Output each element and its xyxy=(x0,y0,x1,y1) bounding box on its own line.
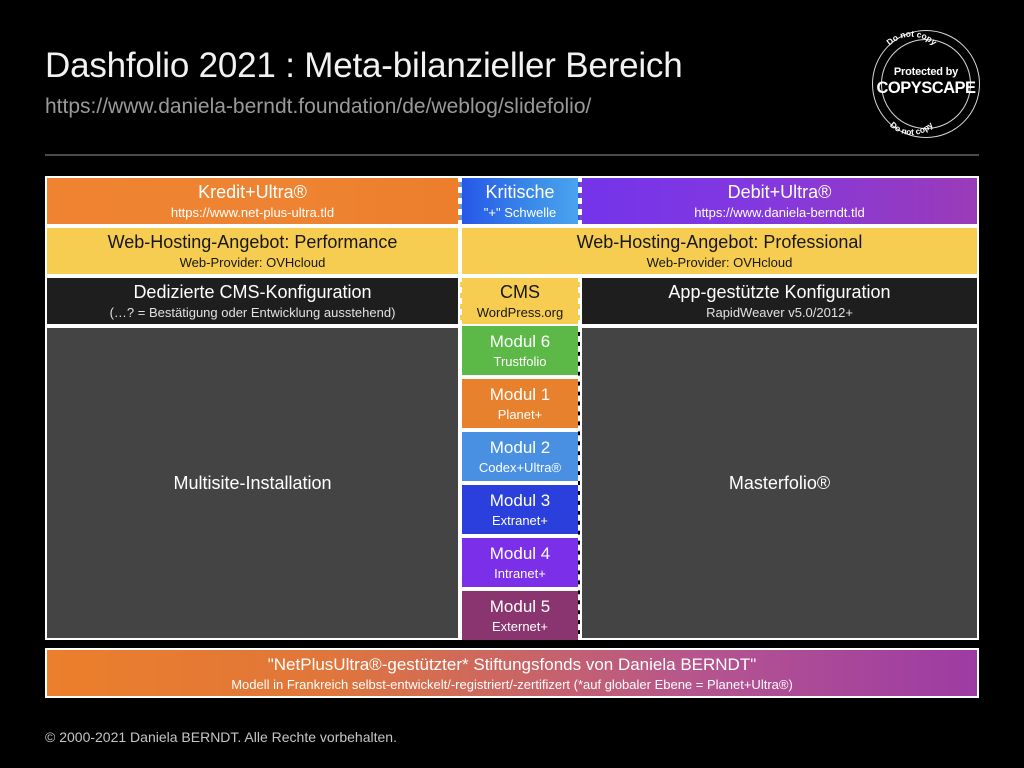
footer-banner-line2: Modell in Frankreich selbst-entwickelt/-… xyxy=(231,676,793,693)
cell-dedizierte-cms-konfiguration[interactable]: Dedizierte CMS-Konfiguration (…? = Bestä… xyxy=(45,276,460,326)
cell-cms-platform: WordPress.org xyxy=(477,304,563,321)
module-item-6-title: Modul 6 xyxy=(490,331,550,353)
cell-masterfolio[interactable]: Masterfolio® xyxy=(580,326,979,640)
badge-copyscape-label: COPYSCAPE xyxy=(872,79,980,98)
badge-arc-bottom-icon: Do not copy xyxy=(872,112,951,134)
cell-multisite-installation[interactable]: Multisite-Installation xyxy=(45,326,460,640)
badge-arc-top-icon: Do not copy xyxy=(872,36,951,58)
module-item-1-subtitle: Planet+ xyxy=(498,406,542,423)
module-item-1[interactable]: Modul 1 Planet+ xyxy=(462,377,578,430)
header-divider xyxy=(45,154,979,156)
module-item-6-subtitle: Trustfolio xyxy=(494,353,547,370)
badge-protected-label: Protected by xyxy=(872,66,980,79)
cell-dedizierte-cms-title: Dedizierte CMS-Konfiguration xyxy=(133,281,371,304)
cell-hosting-professional-title: Web-Hosting-Angebot: Professional xyxy=(577,231,863,254)
grid-row-hosting: Web-Hosting-Angebot: Performance Web-Pro… xyxy=(45,226,979,276)
module-item-4[interactable]: Modul 4 Intranet+ xyxy=(462,536,578,589)
cell-debit-ultra[interactable]: Debit+Ultra® https://www.daniela-berndt.… xyxy=(580,176,979,226)
module-column: Modul 6 Trustfolio Modul 1 Planet+ Modul… xyxy=(460,326,580,640)
cell-kritische-title: Kritische xyxy=(485,181,554,204)
module-item-2-title: Modul 2 xyxy=(490,437,550,459)
module-item-3[interactable]: Modul 3 Extranet+ xyxy=(462,483,578,536)
cell-kritische-subtitle: "+" Schwelle xyxy=(484,204,556,221)
module-item-2-subtitle: Codex+Ultra® xyxy=(479,459,561,476)
module-item-4-title: Modul 4 xyxy=(490,543,550,565)
module-item-5-subtitle: Externet+ xyxy=(492,618,548,635)
copyright-notice: © 2000-2021 Daniela BERNDT. Alle Rechte … xyxy=(45,727,397,747)
cell-masterfolio-title: Masterfolio® xyxy=(729,472,830,495)
badge-center: Protected by COPYSCAPE xyxy=(872,66,980,98)
copyscape-badge: Do not copy Protected by COPYSCAPE Do no… xyxy=(872,30,980,138)
grid-row-accounts: Kredit+Ultra® https://www.net-plus-ultra… xyxy=(45,176,979,226)
page-url[interactable]: https://www.daniela-berndt.foundation/de… xyxy=(45,92,835,122)
cell-kredit-ultra[interactable]: Kredit+Ultra® https://www.net-plus-ultra… xyxy=(45,176,460,226)
cell-hosting-professional[interactable]: Web-Hosting-Angebot: Professional Web-Pr… xyxy=(460,226,979,276)
cell-multisite-title: Multisite-Installation xyxy=(173,472,331,495)
footer-banner-line1: "NetPlusUltra®-gestützter* Stiftungsfond… xyxy=(268,654,757,676)
cell-app-gestuetzte-konfiguration[interactable]: App-gestützte Konfiguration RapidWeaver … xyxy=(580,276,979,326)
page-title: Dashfolio 2021 : Meta-bilanzieller Berei… xyxy=(45,44,835,88)
module-item-3-subtitle: Extranet+ xyxy=(492,512,548,529)
cell-hosting-performance-title: Web-Hosting-Angebot: Performance xyxy=(108,231,398,254)
footer-banner[interactable]: "NetPlusUltra®-gestützter* Stiftungsfond… xyxy=(45,648,979,698)
slide-canvas: Dashfolio 2021 : Meta-bilanzieller Berei… xyxy=(0,0,1024,768)
cell-cms-wordpress[interactable]: CMS WordPress.org xyxy=(460,276,580,326)
module-item-3-title: Modul 3 xyxy=(490,490,550,512)
grid-row-configuration: Dedizierte CMS-Konfiguration (…? = Bestä… xyxy=(45,276,979,326)
module-item-5-title: Modul 5 xyxy=(490,596,550,618)
cell-kritische-schwelle[interactable]: Kritische "+" Schwelle xyxy=(460,176,580,226)
grid-row-modules: Multisite-Installation Modul 6 Trustfoli… xyxy=(45,326,979,640)
cell-cms-title: CMS xyxy=(500,281,540,304)
module-item-6[interactable]: Modul 6 Trustfolio xyxy=(462,326,578,377)
header: Dashfolio 2021 : Meta-bilanzieller Berei… xyxy=(45,44,835,122)
dashfolio-grid: Kredit+Ultra® https://www.net-plus-ultra… xyxy=(45,176,979,640)
cell-hosting-performance[interactable]: Web-Hosting-Angebot: Performance Web-Pro… xyxy=(45,226,460,276)
cell-app-konfiguration-version: RapidWeaver v5.0/2012+ xyxy=(706,304,853,321)
cell-kredit-ultra-title: Kredit+Ultra® xyxy=(198,181,307,204)
cell-debit-ultra-title: Debit+Ultra® xyxy=(728,181,832,204)
cell-hosting-professional-provider: Web-Provider: OVHcloud xyxy=(647,254,793,271)
module-item-5[interactable]: Modul 5 Externet+ xyxy=(462,589,578,640)
module-item-1-title: Modul 1 xyxy=(490,384,550,406)
module-item-4-subtitle: Intranet+ xyxy=(494,565,546,582)
cell-kredit-ultra-url: https://www.net-plus-ultra.tld xyxy=(171,204,334,221)
cell-dedizierte-cms-note: (…? = Bestätigung oder Entwicklung ausst… xyxy=(110,304,396,321)
cell-hosting-performance-provider: Web-Provider: OVHcloud xyxy=(180,254,326,271)
cell-debit-ultra-url: https://www.daniela-berndt.tld xyxy=(694,204,865,221)
cell-app-konfiguration-title: App-gestützte Konfiguration xyxy=(668,281,890,304)
module-item-2[interactable]: Modul 2 Codex+Ultra® xyxy=(462,430,578,483)
